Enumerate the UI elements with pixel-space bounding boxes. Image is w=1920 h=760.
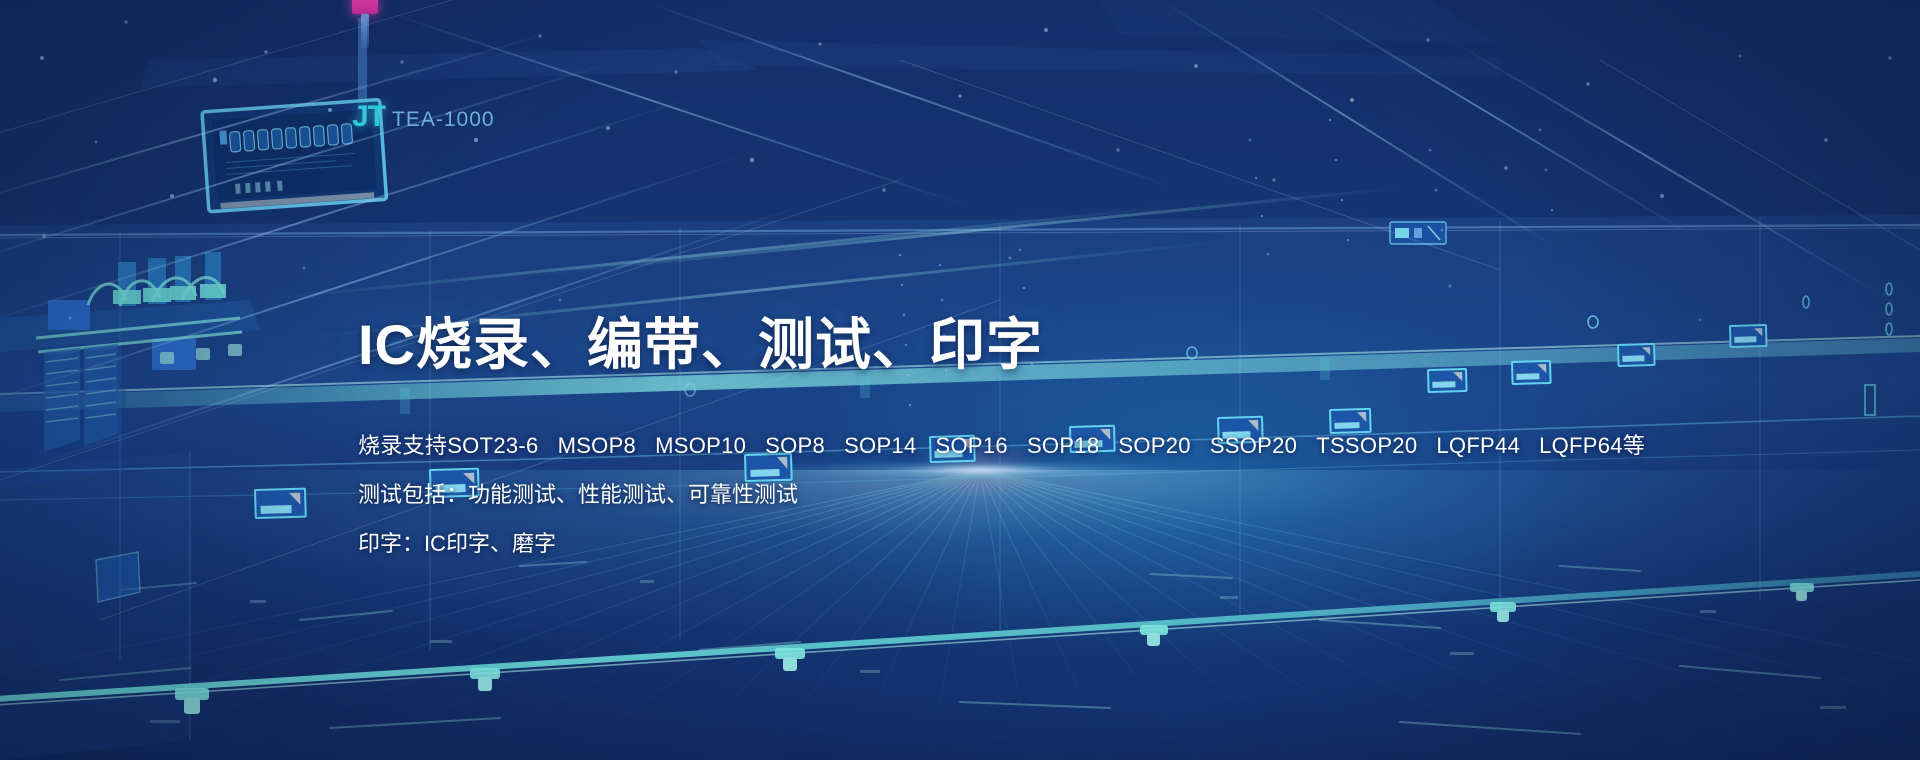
ceiling-fixture-indicator [352,0,378,14]
hero-text-block: IC烧录、编带、测试、印字 烧录支持SOT23-6MSOP8MSOP10SOP8… [358,312,1608,555]
package-item: SOP20 [1118,433,1190,458]
package-item: SOP14 [844,433,916,458]
hero-banner: JT TEA-1000 IC烧录、编带、测试、印字 烧录支持SOT23-6MSO… [0,0,1920,760]
package-item: SOP18 [1027,433,1099,458]
supported-packages-line: 烧录支持SOT23-6MSOP8MSOP10SOP8SOP14SOP16SOP1… [358,435,1608,457]
package-item: SOP16 [936,433,1008,458]
hero-subtitle-list: 烧录支持SOT23-6MSOP8MSOP10SOP8SOP14SOP16SOP1… [358,435,1608,555]
packages-items: MSOP8MSOP10SOP8SOP14SOP16SOP18SOP20SSOP2… [558,433,1646,458]
marking-scope-line: 印字：IC印字、磨字 [358,533,1608,555]
package-item: SSOP20 [1210,433,1297,458]
packages-lead-label: 烧录支持SOT23-6 [358,433,539,458]
testing-scope-line: 测试包括：功能测试、性能测试、可靠性测试 [358,484,1608,506]
package-item: MSOP10 [655,433,746,458]
package-item: TSSOP20 [1316,433,1417,458]
ceiling-fixture-rod [361,14,369,48]
package-item: LQFP64等 [1539,433,1645,458]
package-item: LQFP44 [1436,433,1520,458]
package-item: MSOP8 [558,433,637,458]
package-item: SOP8 [765,433,825,458]
page-title: IC烧录、编带、测试、印字 [358,312,1608,378]
